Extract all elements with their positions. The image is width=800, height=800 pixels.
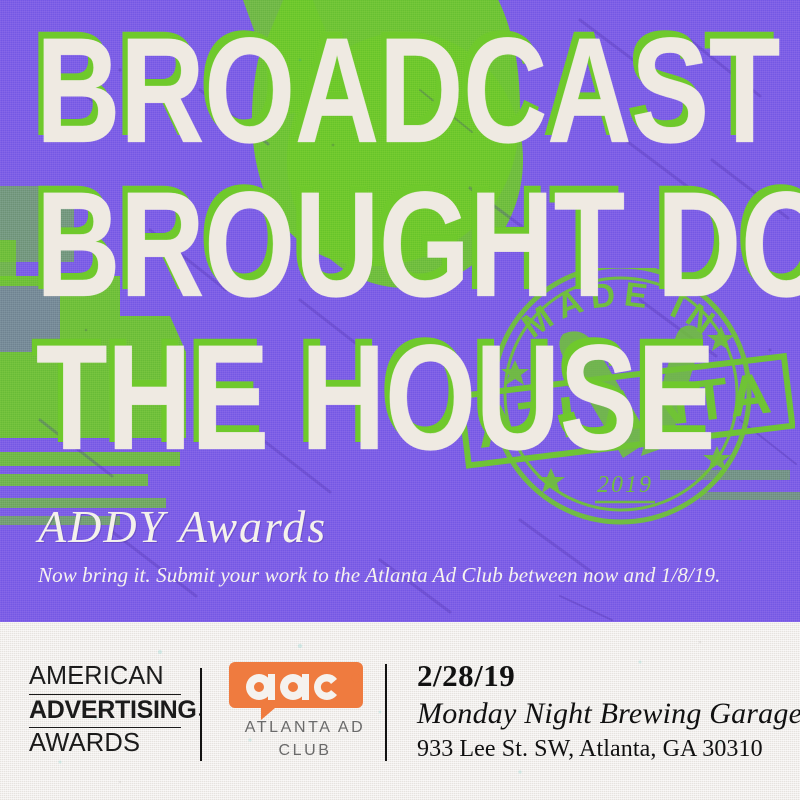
- footer-divider-1: [200, 668, 202, 761]
- hero-panel: MADE IN ATLANTA 2019: [0, 0, 800, 622]
- headline-line-3: THE HOUSE: [36, 325, 613, 471]
- atlanta-ad-club-subtitle: ATLANTA AD CLUB: [229, 716, 381, 762]
- aaa-advertising-text: ADVERTISING: [29, 696, 197, 724]
- event-details: 2/28/19 Monday Night Brewing Garage 933 …: [417, 660, 800, 761]
- award-title: ADDY Awards: [38, 500, 327, 553]
- aaa-line-american: AMERICAN: [29, 664, 179, 690]
- event-venue: Monday Night Brewing Garage: [417, 698, 800, 730]
- footer-divider-2: [385, 664, 387, 761]
- submission-tagline: Now bring it. Submit your work to the At…: [38, 563, 720, 588]
- headline: BROADCAST THAT BROUGHT DOWN THE HOUSE: [36, 18, 776, 471]
- headline-line-1: BROADCAST THAT: [36, 18, 613, 164]
- aaa-line-advertising: ADVERTISING: [29, 698, 181, 723]
- poster-canvas: MADE IN ATLANTA 2019: [0, 0, 800, 800]
- headline-line-2: BROUGHT DOWN: [36, 172, 613, 318]
- atlanta-ad-club-logo: [229, 658, 379, 720]
- aac-accent-dot: [352, 674, 361, 683]
- aaa-line-awards: AWARDS: [29, 731, 181, 757]
- event-date: 2/28/19: [417, 660, 800, 691]
- american-advertising-awards-logo: AMERICAN ADVERTISING AWARDS: [29, 664, 181, 757]
- aaa-rule-bottom: [29, 727, 181, 728]
- aaa-rule-top: [29, 694, 181, 695]
- event-address: 933 Lee St. SW, Atlanta, GA 30310: [417, 737, 800, 761]
